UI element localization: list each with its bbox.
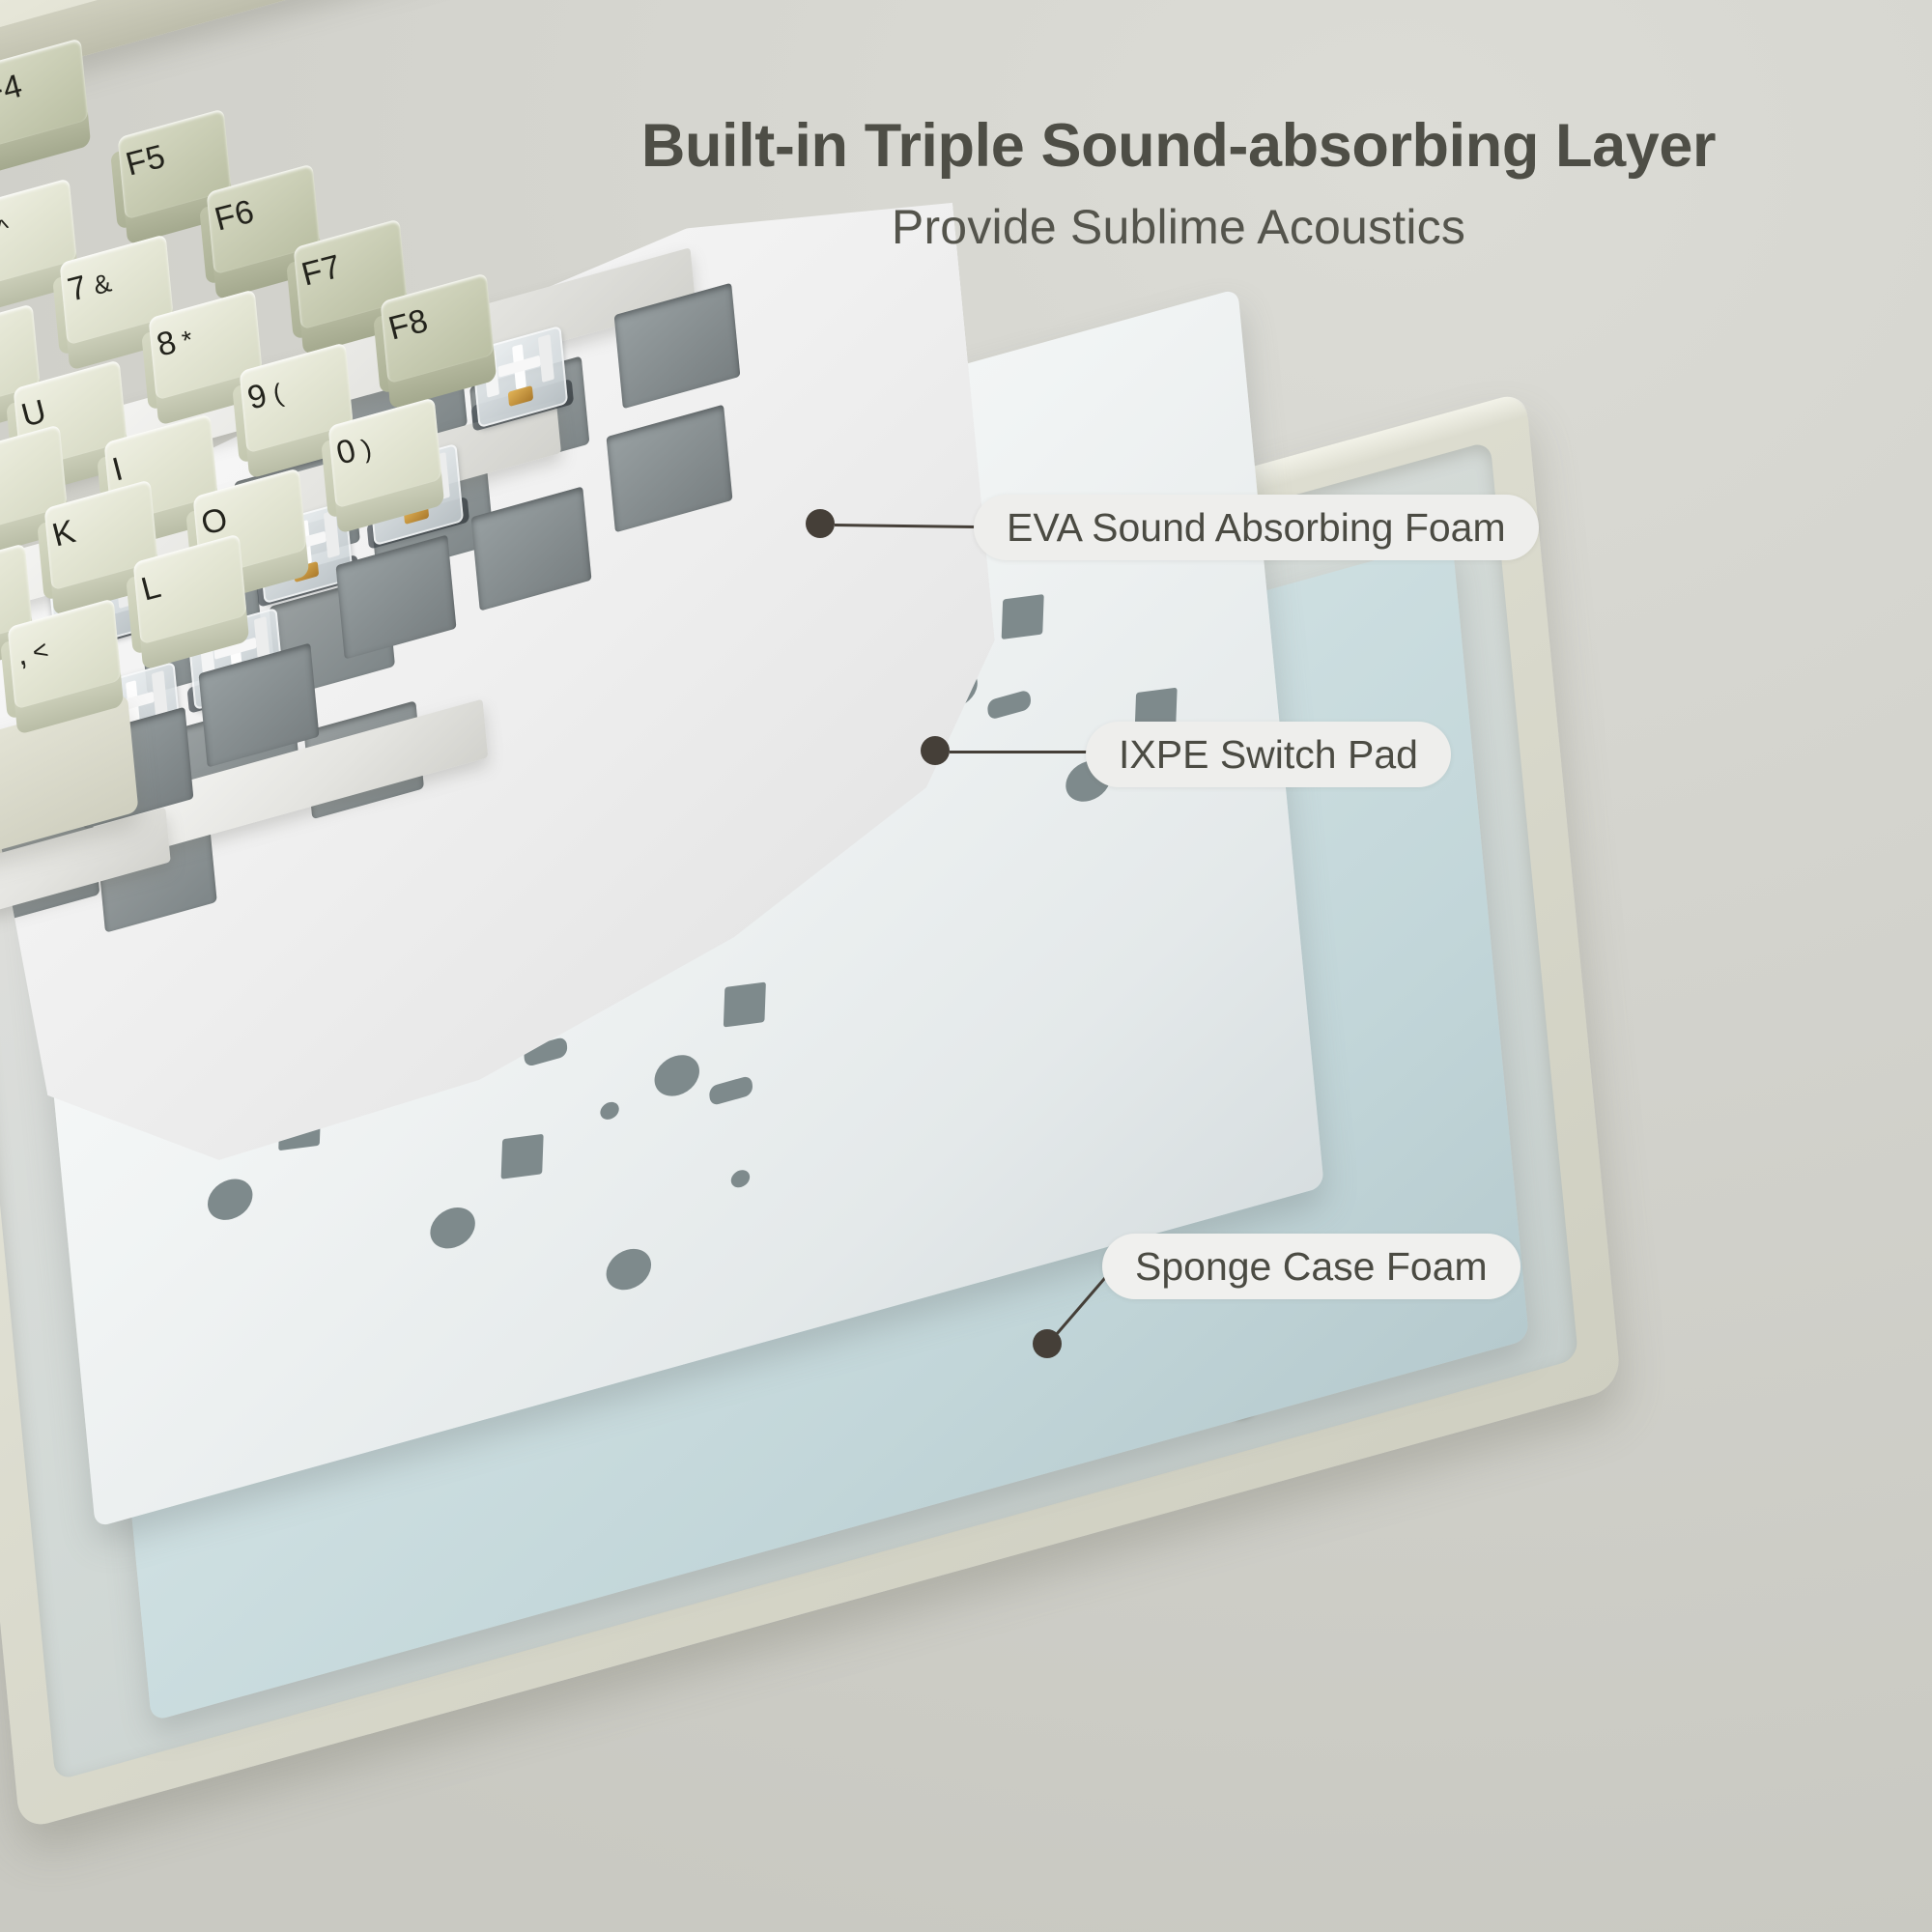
callout-marker-dot-sponge-foam bbox=[1033, 1329, 1062, 1358]
keycap-legend-secondary: ^ bbox=[0, 213, 14, 244]
callout-marker-dot-ixpe-pad bbox=[921, 736, 950, 765]
callout-leader-line-ixpe-pad bbox=[950, 751, 1088, 753]
keyboard-exploded-view: F4F5F6F7F86^7&8*9(0)YUIOJKLM,< bbox=[0, 0, 1932, 1932]
keycap-legend-secondary: ( bbox=[270, 379, 286, 409]
callout-label-eva-foam[interactable]: EVA Sound Absorbing Foam bbox=[974, 495, 1539, 560]
callout-label-text: Sponge Case Foam bbox=[1135, 1244, 1488, 1290]
callout-label-ixpe-pad[interactable]: IXPE Switch Pad bbox=[1086, 722, 1451, 787]
callout-label-text: EVA Sound Absorbing Foam bbox=[1007, 505, 1506, 551]
product-marketing-image: F4F5F6F7F86^7&8*9(0)YUIOJKLM,< Built-in … bbox=[0, 0, 1932, 1932]
page-title: Built-in Triple Sound-absorbing Layer bbox=[454, 114, 1903, 178]
keycap-legend-secondary: * bbox=[179, 325, 196, 355]
keycap-legend-secondary: & bbox=[90, 268, 114, 300]
callout-marker-dot-eva-foam bbox=[806, 509, 835, 538]
page-subtitle: Provide Sublime Acoustics bbox=[454, 199, 1903, 255]
keycap-f4[interactable]: F4 bbox=[0, 36, 98, 178]
headline-block: Built-in Triple Sound-absorbing Layer Pr… bbox=[454, 114, 1903, 255]
callout-label-text: IXPE Switch Pad bbox=[1119, 732, 1418, 778]
keycap-legend-secondary: < bbox=[29, 635, 51, 667]
callout-label-sponge-foam[interactable]: Sponge Case Foam bbox=[1102, 1234, 1520, 1299]
keycap-legend-secondary: ) bbox=[358, 434, 375, 464]
